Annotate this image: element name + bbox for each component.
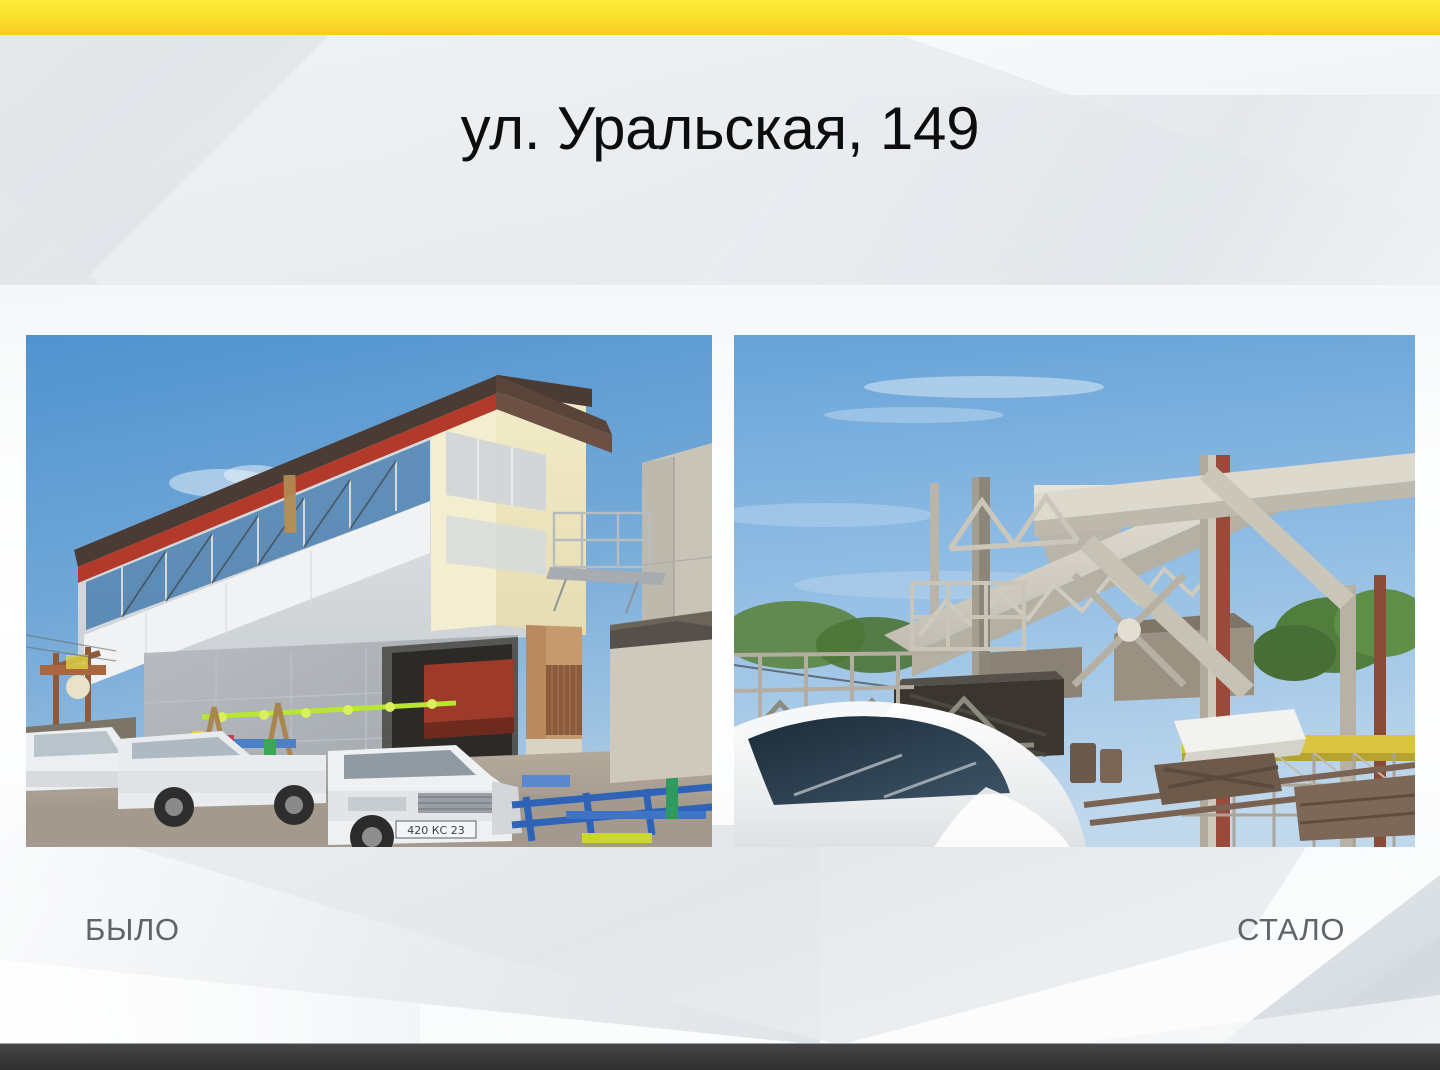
svg-text:420 КС 23: 420 КС 23 — [407, 824, 464, 837]
before-photo[interactable]: 420 КС 23 — [26, 335, 712, 847]
top-accent-bar — [0, 0, 1440, 35]
before-caption: БЫЛО — [85, 912, 180, 948]
photo-comparison-row: 420 КС 23 — [0, 335, 1440, 847]
bottom-footer-bar — [0, 1043, 1440, 1070]
before-photo-image: 420 КС 23 — [26, 335, 712, 847]
after-caption: СТАЛО — [1237, 912, 1345, 948]
slide-title: ул. Уральская, 149 — [0, 90, 1440, 168]
after-photo-image — [734, 335, 1415, 847]
presentation-slide: ул. Уральская, 149 — [0, 0, 1440, 1070]
after-photo[interactable] — [734, 335, 1415, 847]
